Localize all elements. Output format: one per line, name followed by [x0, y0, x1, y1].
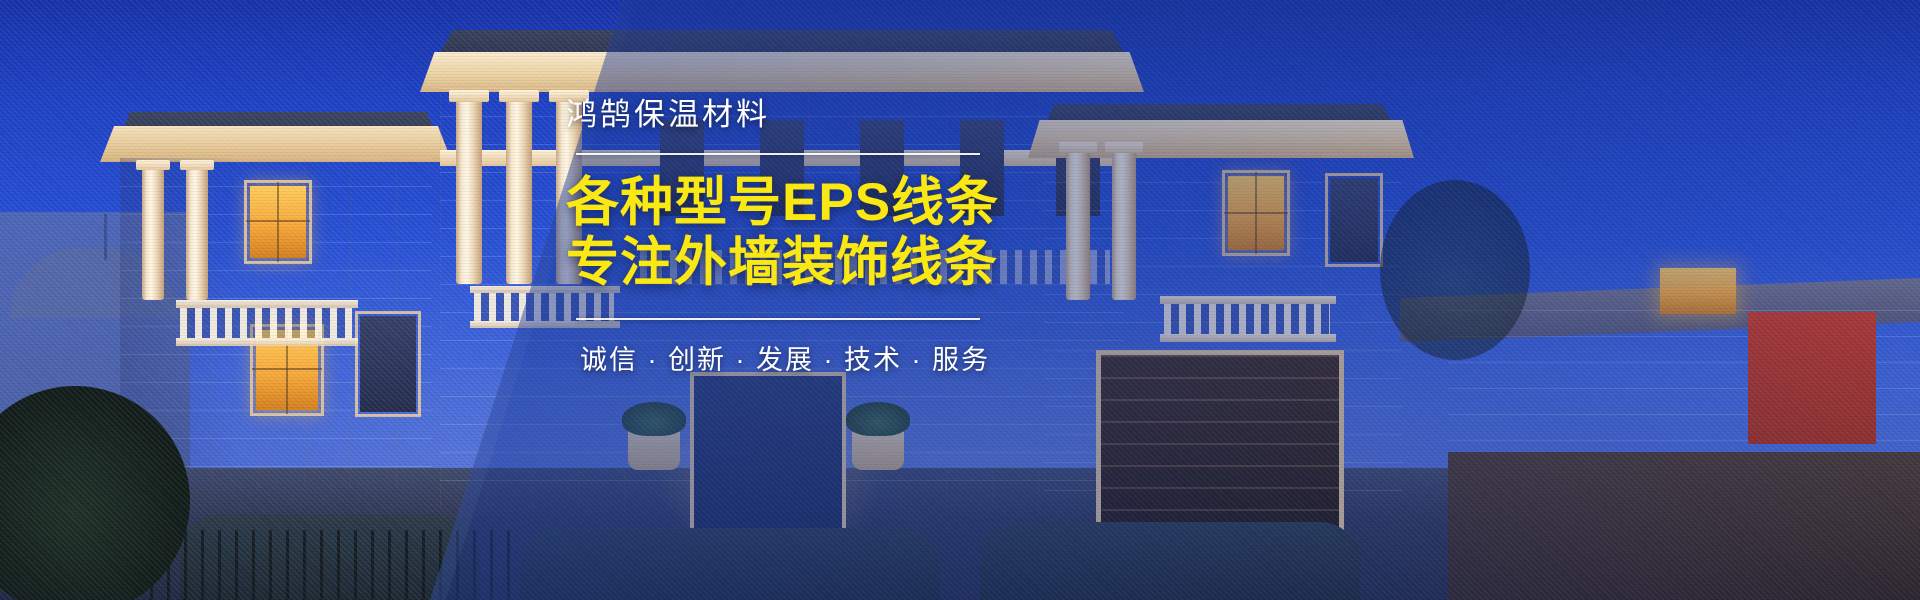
column-capital	[449, 90, 489, 102]
column-capital	[1105, 142, 1143, 153]
hero-banner: 鸿鹄保温材料 各种型号EPS线条 专注外墙装饰线条 诚信 · 创新 · 发展 ·…	[0, 0, 1920, 600]
right-structure-base	[1448, 452, 1920, 600]
red-accent-panel	[1748, 312, 1876, 444]
column-capital	[136, 160, 170, 170]
headline-group: 各种型号EPS线条 专注外墙装饰线条	[566, 173, 996, 294]
column-capital	[499, 90, 539, 102]
brand-title: 鸿鹄保温材料	[566, 96, 996, 135]
hedge-row	[520, 528, 940, 600]
balustrade-rail	[1160, 296, 1336, 304]
window-mullion	[277, 182, 279, 262]
entry-door	[690, 372, 846, 532]
tagline: 诚信 · 创新 · 发展 · 技术 · 服务	[580, 338, 996, 377]
divider-top	[576, 153, 980, 155]
balustrade-base	[176, 338, 358, 346]
headline-line-1: 各种型号EPS线条	[566, 173, 996, 233]
hedge-row	[980, 522, 1360, 600]
window-mullion	[252, 368, 322, 370]
window-mullion	[246, 220, 310, 222]
headline-line-2: 专注外墙装饰线条	[566, 233, 996, 293]
balusters	[1164, 304, 1330, 334]
column	[506, 98, 532, 284]
column-capital	[180, 160, 214, 170]
divider-bottom	[576, 318, 980, 320]
balusters	[180, 308, 352, 338]
column-capital	[1059, 142, 1097, 153]
garage-door	[1096, 350, 1344, 536]
shrub	[846, 402, 910, 436]
background-tree	[1380, 180, 1530, 360]
window-frame	[1325, 173, 1383, 267]
villa-center-cornice	[420, 52, 1144, 92]
column	[142, 168, 164, 300]
window-mullion	[1224, 212, 1288, 214]
column	[1112, 150, 1136, 300]
balustrade-rail	[176, 300, 358, 308]
column	[186, 168, 208, 300]
lit-window	[1660, 268, 1736, 314]
banner-text-block: 鸿鹄保温材料 各种型号EPS线条 专注外墙装饰线条 诚信 · 创新 · 发展 ·…	[566, 96, 996, 377]
column	[1066, 150, 1090, 300]
iron-fence	[150, 530, 510, 600]
villa-left-wing-cornice	[100, 126, 452, 162]
distant-mast	[104, 214, 107, 260]
column	[456, 98, 482, 284]
shrub	[622, 402, 686, 436]
balustrade-base	[1160, 334, 1336, 342]
garage-door-slats	[1101, 355, 1339, 531]
window-frame	[355, 311, 421, 417]
